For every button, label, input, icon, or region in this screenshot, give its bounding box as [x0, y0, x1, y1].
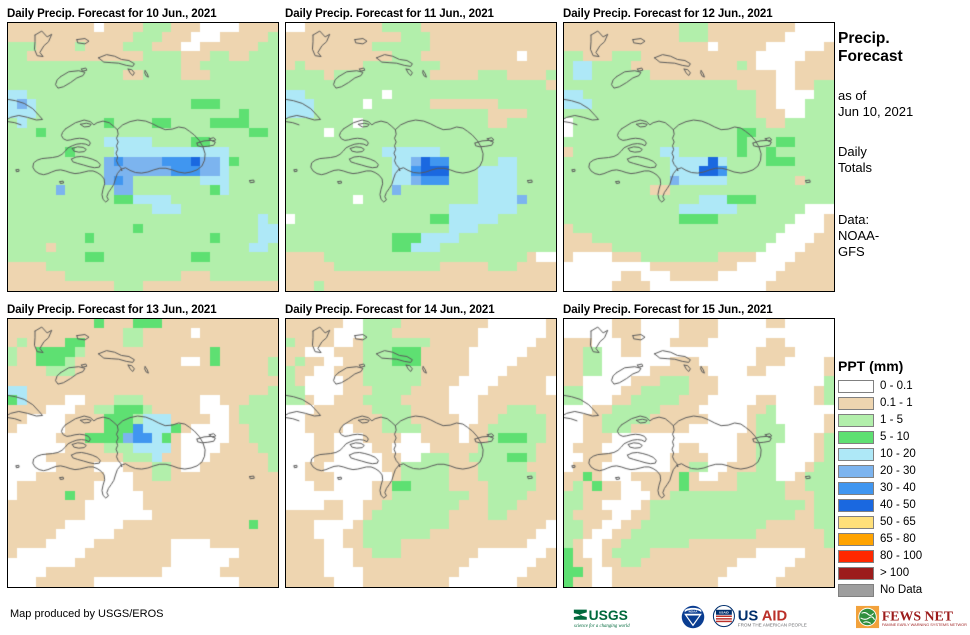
panel-title-6: Daily Precip. Forecast for 15 Jun., 2021 [563, 304, 835, 318]
legend-row: 1 - 5 [838, 412, 968, 429]
svg-text:FAMINE EARLY WARNING SYSTEMS N: FAMINE EARLY WARNING SYSTEMS NETWORK [882, 622, 967, 627]
legend-label: 80 - 100 [880, 550, 922, 563]
usaid-logo[interactable]: USAID US AID FROM THE AMERICAN PEOPLE [711, 605, 849, 629]
svg-text:USAID: USAID [719, 611, 729, 615]
legend-row: 20 - 30 [838, 463, 968, 480]
forecast-panel-4[interactable]: Daily Precip. Forecast for 13 Jun., 2021 [7, 304, 279, 588]
panel-title-2: Daily Precip. Forecast for 11 Jun., 2021 [285, 8, 557, 22]
legend-title: PPT (mm) [838, 358, 968, 374]
legend-row: 30 - 40 [838, 480, 968, 497]
legend-row: No Data [838, 582, 968, 599]
legend: PPT (mm) 0 - 0.10.1 - 11 - 55 - 1010 - 2… [838, 358, 968, 599]
usgs-logo[interactable]: USGS science for a changing world [572, 605, 675, 629]
panel-map-2[interactable] [285, 22, 557, 292]
panel-title-1: Daily Precip. Forecast for 10 Jun., 2021 [7, 8, 279, 22]
legend-swatch [838, 465, 874, 478]
legend-swatch [838, 533, 874, 546]
legend-label: 30 - 40 [880, 482, 916, 495]
legend-swatch [838, 414, 874, 427]
legend-swatch [838, 567, 874, 580]
legend-swatch [838, 584, 874, 597]
legend-label: 65 - 80 [880, 533, 916, 546]
forecast-panel-grid: Daily Precip. Forecast for 10 Jun., 2021… [0, 0, 836, 600]
legend-label: 10 - 20 [880, 448, 916, 461]
svg-text:FROM THE AMERICAN PEOPLE: FROM THE AMERICAN PEOPLE [738, 623, 807, 628]
svg-text:NOAA: NOAA [689, 610, 699, 614]
legend-label: 50 - 65 [880, 516, 916, 529]
fewsnet-logo[interactable]: FEWS NET FAMINE EARLY WARNING SYSTEMS NE… [856, 605, 967, 629]
legend-label: 0.1 - 1 [880, 397, 913, 410]
legend-row: 40 - 50 [838, 497, 968, 514]
legend-label: 1 - 5 [880, 414, 903, 427]
legend-label: 0 - 0.1 [880, 380, 913, 393]
legend-row: 0.1 - 1 [838, 395, 968, 412]
legend-rows: 0 - 0.10.1 - 11 - 55 - 1010 - 2020 - 303… [838, 378, 968, 599]
legend-swatch [838, 516, 874, 529]
map-heading: Precip. Forecast [838, 30, 968, 66]
legend-label: > 100 [880, 567, 909, 580]
data-source-label: Data: NOAA- GFS [838, 212, 968, 260]
legend-swatch [838, 431, 874, 444]
svg-text:USGS: USGS [589, 607, 628, 623]
map-credit: Map produced by USGS/EROS [10, 608, 163, 621]
legend-row: 5 - 10 [838, 429, 968, 446]
panel-title-3: Daily Precip. Forecast for 12 Jun., 2021 [563, 8, 835, 22]
legend-row: 10 - 20 [838, 446, 968, 463]
noaa-logo[interactable]: NOAA [681, 605, 705, 629]
forecast-panel-2[interactable]: Daily Precip. Forecast for 11 Jun., 2021 [285, 8, 557, 292]
legend-swatch [838, 482, 874, 495]
legend-row: 80 - 100 [838, 548, 968, 565]
forecast-panel-6[interactable]: Daily Precip. Forecast for 15 Jun., 2021 [563, 304, 835, 588]
panel-map-5[interactable] [285, 318, 557, 588]
legend-swatch [838, 550, 874, 563]
legend-row: 0 - 0.1 [838, 378, 968, 395]
aggregation-label: Daily Totals [838, 144, 968, 176]
panel-title-5: Daily Precip. Forecast for 14 Jun., 2021 [285, 304, 557, 318]
legend-label: 5 - 10 [880, 431, 909, 444]
legend-row: 65 - 80 [838, 531, 968, 548]
legend-label: No Data [880, 584, 922, 597]
legend-swatch [838, 499, 874, 512]
panel-map-6[interactable] [563, 318, 835, 588]
legend-row: 50 - 65 [838, 514, 968, 531]
logo-bar: USGS science for a changing world NOAA U… [572, 604, 967, 630]
forecast-panel-3[interactable]: Daily Precip. Forecast for 12 Jun., 2021 [563, 8, 835, 292]
panel-map-4[interactable] [7, 318, 279, 588]
svg-text:science for a changing world: science for a changing world [574, 624, 630, 629]
panel-map-1[interactable] [7, 22, 279, 292]
forecast-panel-5[interactable]: Daily Precip. Forecast for 14 Jun., 2021 [285, 304, 557, 588]
legend-label: 40 - 50 [880, 499, 916, 512]
legend-swatch [838, 397, 874, 410]
as-of-date: as of Jun 10, 2021 [838, 88, 968, 120]
info-column: Precip. Forecast as of Jun 10, 2021 Dail… [838, 30, 968, 260]
panel-map-3[interactable] [563, 22, 835, 292]
legend-label: 20 - 30 [880, 465, 916, 478]
panel-title-4: Daily Precip. Forecast for 13 Jun., 2021 [7, 304, 279, 318]
legend-swatch [838, 380, 874, 393]
forecast-panel-1[interactable]: Daily Precip. Forecast for 10 Jun., 2021 [7, 8, 279, 292]
legend-swatch [838, 448, 874, 461]
legend-row: > 100 [838, 565, 968, 582]
